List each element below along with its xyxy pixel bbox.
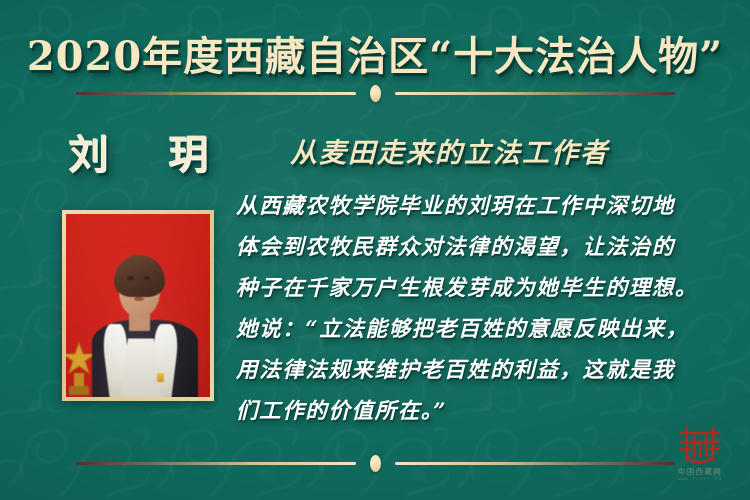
body-line: 用法律法规来维护老百姓的利益，这就是我 xyxy=(236,350,728,391)
diamond-ornament-icon xyxy=(370,455,381,472)
logo-site-url: www.tibet.cn xyxy=(666,477,734,482)
divider-bar-right xyxy=(395,92,675,95)
portrait-photo xyxy=(66,214,210,397)
person-subtitle: 从麦田走来的立法工作者 xyxy=(290,131,609,170)
diamond-ornament-icon xyxy=(370,85,381,102)
poster-title-wrap: 2020年度西藏自治区“十大法治人物” xyxy=(0,24,750,82)
divider-bar-left xyxy=(76,92,356,95)
body-line: 们工作的价值所在。” xyxy=(236,391,728,432)
china-tibet-net-logo-icon xyxy=(677,426,723,464)
portrait-soft-overlay xyxy=(66,214,210,397)
logo-site-name: 中国西藏网 xyxy=(666,467,734,476)
body-line: 从西藏农牧学院毕业的刘玥在工作中深切地 xyxy=(236,186,728,227)
divider-top xyxy=(0,86,750,100)
divider-bar-left xyxy=(76,462,356,465)
body-line: 种子在千家万户生根发芽成为她毕生的理想。 xyxy=(236,268,728,309)
body-line: 她说：“立法能够把老百姓的意愿反映出来， xyxy=(236,309,728,350)
person-name: 刘 玥 xyxy=(48,122,238,180)
body-line: 体会到农牧民群众对法律的渴望，让法治的 xyxy=(236,227,728,268)
site-logo: 中国西藏网 www.tibet.cn xyxy=(666,426,734,482)
poster-canvas: 2020年度西藏自治区“十大法治人物” 刘 玥 从麦田走来的立法工作者 xyxy=(0,0,750,500)
divider-bottom xyxy=(0,456,750,470)
body-copy: 从西藏农牧学院毕业的刘玥在工作中深切地 体会到农牧民群众对法律的渴望，让法治的 … xyxy=(236,186,728,432)
divider-bar-right xyxy=(395,462,675,465)
page-title: 2020年度西藏自治区“十大法治人物” xyxy=(27,24,723,82)
portrait-frame xyxy=(62,210,214,401)
